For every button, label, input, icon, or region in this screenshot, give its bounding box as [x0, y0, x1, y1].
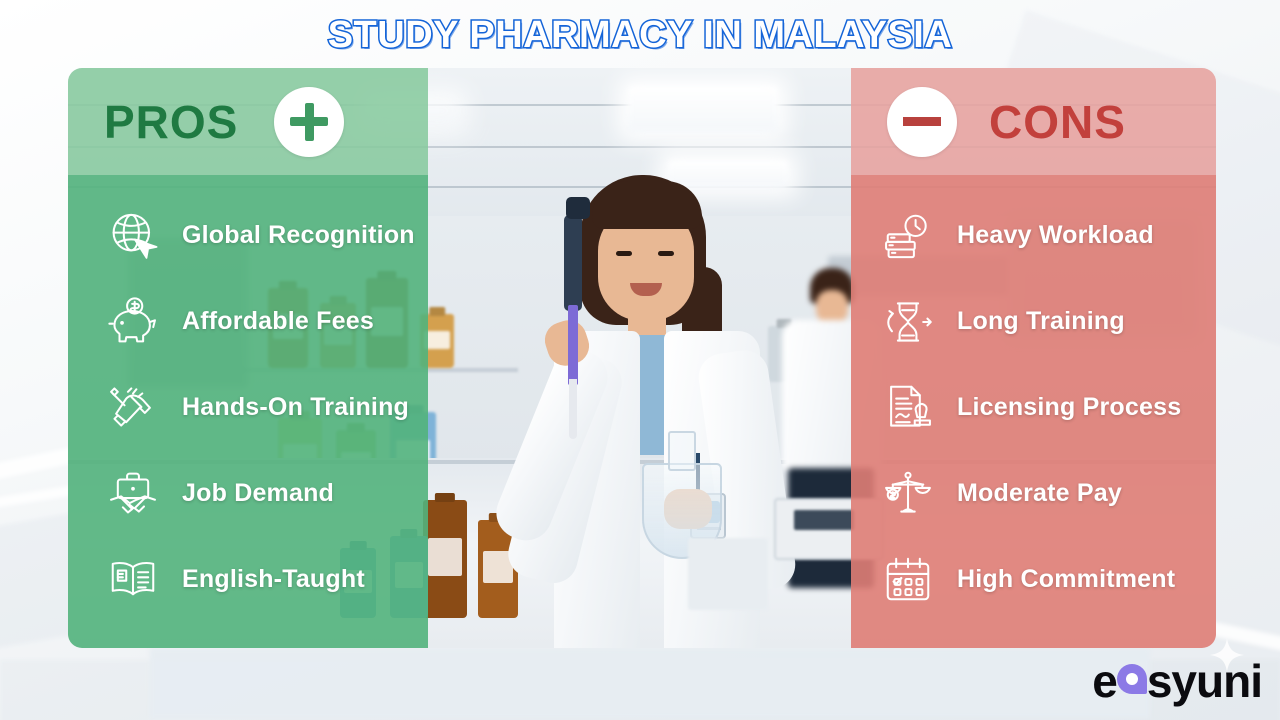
list-item[interactable]: English-Taught	[68, 544, 428, 614]
logo-accent-letter	[1117, 664, 1147, 697]
list-item[interactable]: High Commitment	[851, 544, 1216, 614]
list-item[interactable]: Job Demand	[68, 458, 428, 528]
scales-money-icon	[877, 462, 939, 524]
cons-panel: CONS Heavy Workload	[851, 68, 1216, 648]
hourglass-icon	[877, 291, 939, 353]
cons-heading: CONS	[989, 99, 1126, 145]
list-item-label: Hands-On Training	[182, 393, 409, 422]
cons-list: Heavy Workload Long Training	[851, 175, 1216, 648]
plus-icon	[274, 87, 344, 157]
list-item[interactable]: Affordable Fees	[68, 287, 428, 357]
list-item[interactable]: Licensing Process	[851, 372, 1216, 442]
open-book-icon	[102, 548, 164, 610]
logo-text-before: e	[1092, 654, 1117, 708]
infographic-canvas: STUDY PHARMACY IN MALAYSIA	[0, 0, 1280, 720]
list-item-label: English-Taught	[182, 565, 365, 594]
list-item-label: Global Recognition	[182, 221, 415, 250]
list-item[interactable]: Moderate Pay	[851, 458, 1216, 528]
pros-list: Global Recognition Affordable Fees	[68, 175, 428, 648]
list-item-label: Heavy Workload	[957, 221, 1154, 250]
list-item[interactable]: Hands-On Training	[68, 372, 428, 442]
gloves-icon	[102, 376, 164, 438]
sparkle-icon	[1210, 638, 1244, 672]
list-item-label: Licensing Process	[957, 393, 1181, 422]
pros-heading: PROS	[104, 99, 238, 145]
briefcase-handshake-icon	[102, 462, 164, 524]
minus-icon	[887, 87, 957, 157]
calendar-check-icon	[877, 548, 939, 610]
title-container: STUDY PHARMACY IN MALAYSIA	[0, 14, 1280, 57]
list-item-label: Affordable Fees	[182, 307, 374, 336]
pros-panel: PROS Global Recognition	[68, 68, 428, 648]
list-item[interactable]: Heavy Workload	[851, 201, 1216, 271]
list-item-label: High Commitment	[957, 565, 1175, 594]
books-clock-icon	[877, 205, 939, 267]
list-item[interactable]: Global Recognition	[68, 201, 428, 271]
piggy-bank-icon	[102, 291, 164, 353]
globe-cursor-icon	[102, 205, 164, 267]
cons-header: CONS	[851, 68, 1216, 175]
list-item-label: Moderate Pay	[957, 479, 1122, 508]
page-title: STUDY PHARMACY IN MALAYSIA	[328, 14, 953, 57]
document-stamp-icon	[877, 376, 939, 438]
list-item[interactable]: Long Training	[851, 287, 1216, 357]
list-item-label: Long Training	[957, 307, 1125, 336]
list-item-label: Job Demand	[182, 479, 334, 508]
logo-text-after: syuni	[1147, 654, 1262, 708]
pros-header: PROS	[68, 68, 428, 175]
